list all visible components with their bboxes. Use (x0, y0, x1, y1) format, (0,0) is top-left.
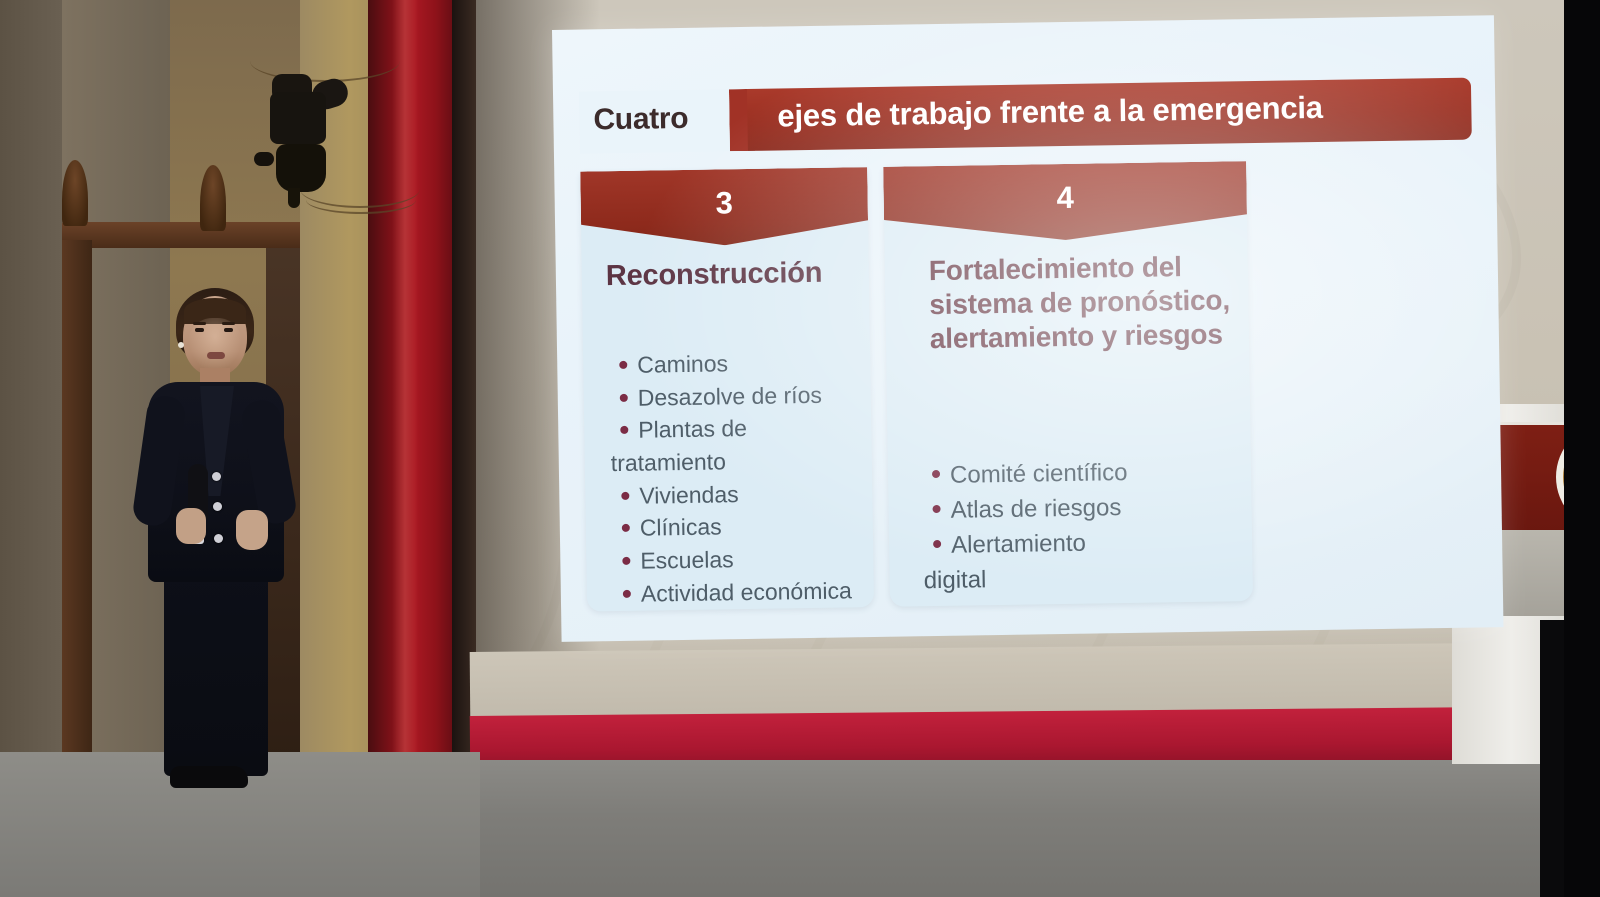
jacket-button (214, 534, 223, 543)
presenter-eye (224, 328, 233, 332)
door-post-left (62, 240, 92, 760)
list-item: Plantas de (618, 410, 871, 447)
card-bullet-list: Comité científico Atlas de riesgos Alert… (930, 453, 1261, 598)
wall-camera-icon (262, 66, 348, 196)
card-axis-3: 3 Reconstrucción Caminos Desazolve de rí… (580, 167, 874, 611)
list-item: Actividad económica (621, 574, 874, 611)
list-item: Escuelas (620, 541, 873, 578)
presenter-hand-right (236, 510, 268, 550)
presenter-face (188, 318, 242, 372)
list-item-continuation: digital (923, 558, 1261, 598)
card-title: Reconstrucción (606, 255, 858, 293)
curtain-highlight (392, 0, 418, 770)
wall-column-dark (0, 0, 62, 760)
list-item: Desazolve de ríos (618, 378, 871, 415)
list-item: Comité científico (930, 453, 1260, 493)
card-bullet-list: Caminos Desazolve de ríos Plantas de tra… (617, 345, 874, 610)
presenter-shoes (170, 766, 248, 788)
list-item-continuation: tratamiento (611, 443, 872, 480)
card-number: 3 (580, 183, 868, 224)
list-item: Atlas de riesgos (930, 488, 1260, 528)
door-frame-top (62, 222, 302, 248)
slide-title-label-panel: Cuatro (579, 89, 748, 154)
projected-slide: Cuatro ejes de trabajo frente a la emerg… (552, 15, 1503, 642)
list-item: Alertamiento (931, 523, 1261, 563)
jacket-button (213, 502, 222, 511)
presenter-eye (195, 328, 204, 332)
card-number: 4 (883, 177, 1247, 219)
list-item: Caminos (617, 345, 870, 382)
card-title: Fortalecimiento del sistema de pronóstic… (929, 249, 1234, 356)
slide-title-bar: Cuatro ejes de trabajo frente a la emerg… (579, 78, 1472, 154)
slide-title-banner: ejes de trabajo frente a la emergencia (747, 78, 1472, 151)
jacket-button (212, 472, 221, 481)
list-item: Clínicas (620, 508, 873, 545)
presenter-brow (193, 322, 206, 325)
presenter (128, 296, 318, 806)
slide-cards: 3 Reconstrucción Caminos Desazolve de rí… (580, 161, 1267, 612)
slide-title-text: ejes de trabajo frente a la emergencia (777, 90, 1323, 135)
presenter-earring (178, 342, 184, 348)
list-item: Viviendas (619, 476, 872, 513)
presenter-hand-left (176, 508, 206, 544)
slide-title-label: Cuatro (593, 102, 688, 137)
presenter-trousers (164, 564, 268, 776)
screenshot-stage: Cuatro ejes de trabajo frente a la emerg… (0, 0, 1600, 897)
presenter-brow (222, 322, 235, 325)
right-edge-dark-band (1564, 0, 1600, 897)
presenter-mouth (207, 352, 225, 359)
card-axis-4: 4 Fortalecimiento del sistema de pronóst… (883, 161, 1253, 607)
